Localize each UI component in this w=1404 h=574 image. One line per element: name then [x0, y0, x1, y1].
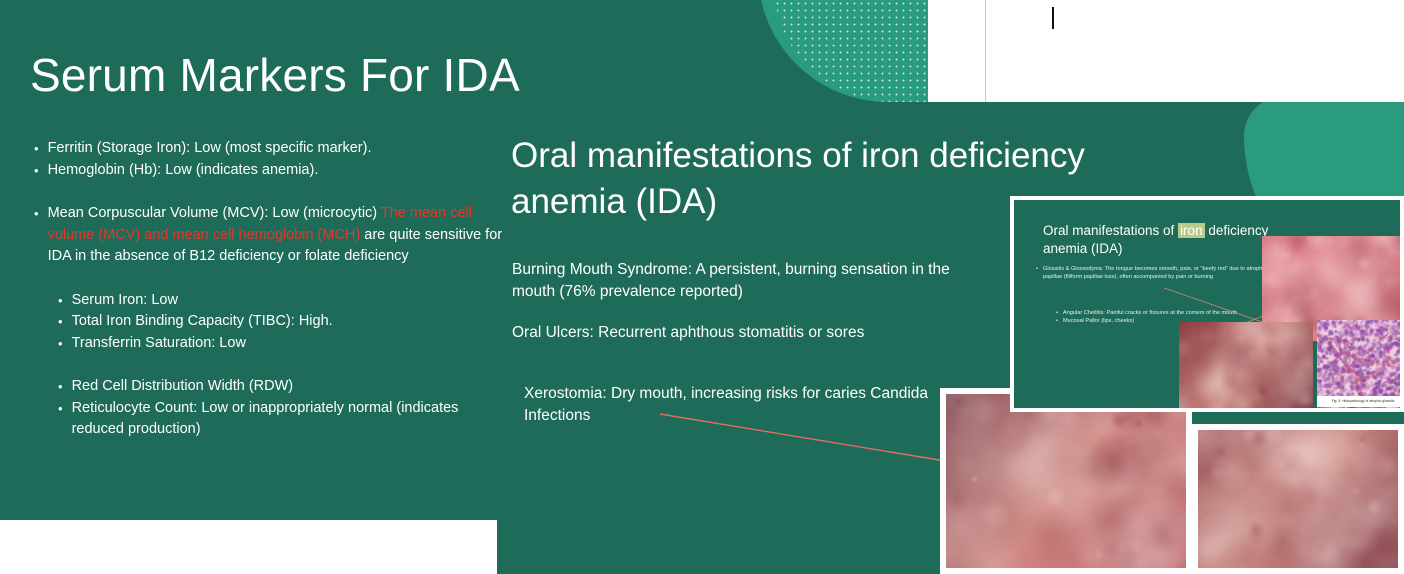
- mcv-lead-text: Mean Corpuscular Volume (MCV): Low (micr…: [48, 205, 381, 221]
- list-item-label: Red Cell Distribution Width (RDW): [72, 376, 504, 398]
- list-item-label: Mean Corpuscular Volume (MCV): Low (micr…: [48, 203, 504, 268]
- list-item-label: Serum Iron: Low: [72, 290, 504, 312]
- embedded-slide: Oral manifestations of iron deficiencyan…: [1014, 200, 1400, 408]
- left-bullet-list: • Ferritin (Storage Iron): Low (most spe…: [34, 138, 504, 441]
- list-item: • Ferritin (Storage Iron): Low (most spe…: [34, 138, 504, 160]
- list-item-label: Ferritin (Storage Iron): Low (most speci…: [48, 138, 504, 160]
- embedded-slide-frame[interactable]: Oral manifestations of iron deficiencyan…: [1010, 196, 1404, 412]
- bullet-glyph: •: [58, 311, 63, 333]
- spacer: [34, 181, 504, 203]
- embedded-bullet-glossitis: • Glossitis & Glossodynia: The tongue be…: [1036, 266, 1286, 281]
- bullet-glyph: •: [58, 290, 63, 312]
- decorative-corner-dots: [774, 0, 943, 102]
- list-item-label: Reticulocyte Count: Low or inappropriate…: [72, 398, 504, 441]
- text-cursor-caret[interactable]: [1052, 7, 1054, 29]
- bullet-glyph: •: [1036, 266, 1038, 274]
- angular-cheilitis-photo: [1179, 322, 1313, 408]
- left-sublist-iron: • Serum Iron: Low • Total Iron Binding C…: [58, 290, 504, 355]
- intraoral-secondary-photo: [1192, 424, 1404, 574]
- bullet-glyph: •: [34, 160, 39, 182]
- list-item-label: Glossitis & Glossodynia: The tongue beco…: [1043, 266, 1286, 281]
- spacer: [34, 354, 504, 376]
- right-paragraph-burning-mouth: Burning Mouth Syndrome: A persistent, bu…: [512, 259, 962, 303]
- bullet-glyph: •: [58, 333, 63, 355]
- bottom-white-panel: [0, 520, 497, 574]
- bullet-glyph: •: [58, 376, 63, 398]
- list-item-mcv: • Mean Corpuscular Volume (MCV): Low (mi…: [34, 203, 504, 268]
- panel-divider: [985, 0, 986, 102]
- page-title: Serum Markers For IDA: [30, 48, 520, 102]
- bullet-glyph: •: [1056, 310, 1058, 318]
- list-item: • Glossitis & Glossodynia: The tongue be…: [1036, 266, 1286, 281]
- slide-canvas: Serum Markers For IDA • Ferritin (Storag…: [0, 0, 1404, 574]
- list-item-label: Hemoglobin (Hb): Low (indicates anemia).: [48, 160, 504, 182]
- intraoral-palate-photo: [940, 388, 1192, 574]
- title-part-2: deficiency: [1205, 223, 1269, 238]
- list-item: • Serum Iron: Low: [58, 290, 504, 312]
- list-item-label: Transferrin Saturation: Low: [72, 333, 504, 355]
- editor-top-panel: [928, 0, 1404, 102]
- spacer: [34, 268, 504, 290]
- bullet-glyph: •: [34, 203, 39, 225]
- bullet-glyph: •: [34, 138, 39, 160]
- right-paragraph-xerostomia: Xerostomia: Dry mouth, increasing risks …: [524, 383, 944, 427]
- list-item: • Hemoglobin (Hb): Low (indicates anemia…: [34, 160, 504, 182]
- title-line-2: anemia (IDA): [1043, 241, 1123, 256]
- list-item: • Transferrin Saturation: Low: [58, 333, 504, 355]
- figure-caption: Fig. 3: Histopathology of atrophic gloss…: [1317, 396, 1400, 407]
- left-sublist-rdw: • Red Cell Distribution Width (RDW) • Re…: [58, 376, 504, 441]
- list-item-label: Mucosal Pallor (lips, cheeks): [1063, 318, 1134, 326]
- list-item: • Total Iron Binding Capacity (TIBC): Hi…: [58, 311, 504, 333]
- list-item-label: Total Iron Binding Capacity (TIBC): High…: [72, 311, 504, 333]
- title-part-1: Oral manifestations of: [1043, 223, 1178, 238]
- histopathology-slide: [1317, 320, 1400, 408]
- bullet-glyph: •: [58, 398, 63, 420]
- bullet-glyph: •: [1056, 318, 1058, 326]
- right-paragraph-oral-ulcers: Oral Ulcers: Recurrent aphthous stomatit…: [512, 322, 962, 344]
- highlighted-word-iron: iron: [1178, 223, 1205, 238]
- list-item: • Reticulocyte Count: Low or inappropria…: [58, 398, 504, 441]
- list-item: • Red Cell Distribution Width (RDW): [58, 376, 504, 398]
